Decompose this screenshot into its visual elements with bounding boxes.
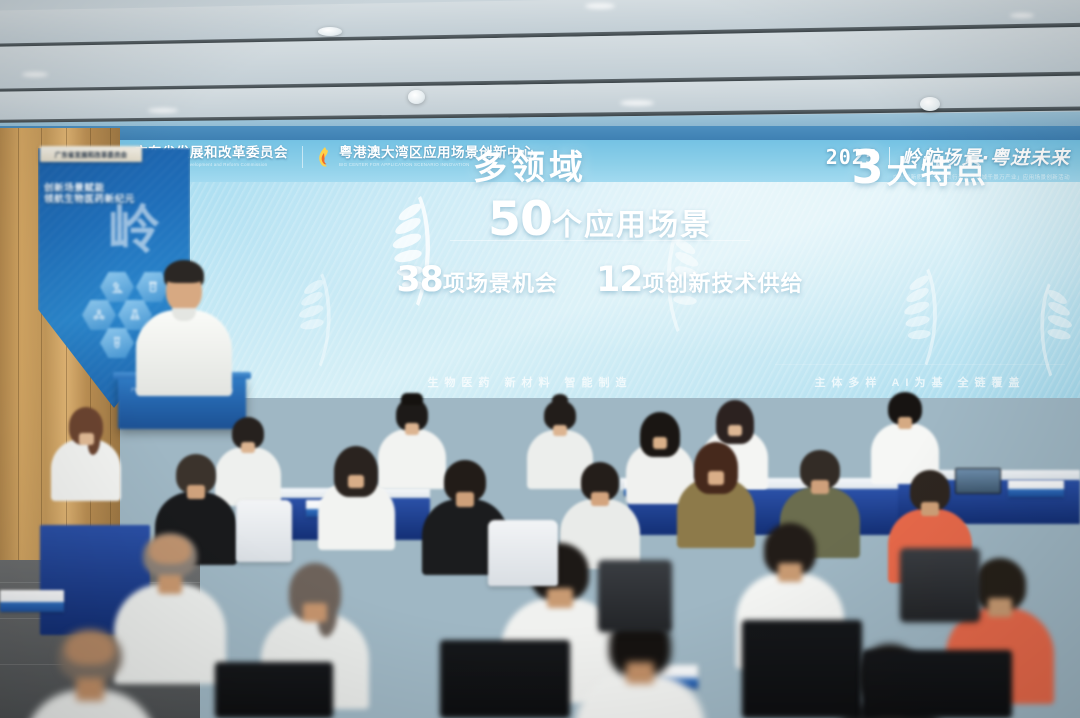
- ceiling-glow-5: [148, 108, 178, 113]
- attendee-neck: [405, 423, 420, 435]
- attendee-neck: [187, 485, 205, 499]
- flame-icon: [317, 146, 330, 168]
- ceiling-glow-3: [22, 72, 48, 77]
- headline-rule-1: [450, 240, 750, 241]
- ceiling-glow-2: [1010, 13, 1034, 18]
- molecule-icon: [82, 300, 116, 330]
- attendee-neck: [898, 417, 913, 429]
- chair-icon: [236, 500, 292, 562]
- chair-icon: [488, 520, 558, 586]
- headline-1-text: 个应用场景: [552, 209, 712, 242]
- attendee-neck: [921, 502, 939, 516]
- attendee-neck: [553, 425, 567, 436]
- vertical-divider-icon: [302, 146, 303, 168]
- attendee-scalp: [149, 535, 191, 564]
- ceiling-spotlight-2: [408, 90, 425, 104]
- headline-2-left-number: 38: [397, 260, 443, 300]
- headline-2-right-text: 项创新技术供给: [642, 271, 803, 296]
- attendee-hair-clip: [401, 393, 422, 405]
- attendee-hair: [694, 442, 739, 494]
- speaker: [128, 258, 238, 388]
- caption-domains: 生物医药 新材料 智能制造: [370, 374, 690, 390]
- attendee-torso: [51, 439, 121, 501]
- headline-three-features: 3大特点: [760, 140, 1080, 194]
- led-backdrop-screen: 广东省发展和改革委员会 Guangdong Provincial Develop…: [120, 140, 1080, 398]
- nameplate-icon: [1008, 480, 1064, 497]
- chair-icon: [862, 650, 1012, 718]
- ceiling-spotlight-3: [920, 97, 940, 111]
- ceiling-spotlight-1: [318, 27, 342, 36]
- speaker-hair-front: [165, 267, 203, 283]
- banner-line-2: 领航生物医药新纪元: [44, 191, 135, 205]
- attendee-hair: [334, 446, 378, 497]
- attendee-neck: [303, 603, 326, 622]
- ceiling-glow-4: [620, 100, 654, 106]
- chair-icon: [215, 662, 333, 718]
- chair-icon: [900, 548, 980, 622]
- attendee-row3-g: [24, 625, 157, 718]
- attendee-neck: [728, 425, 742, 436]
- headline-rule-2: [775, 364, 1065, 365]
- headline-1-number: 50: [488, 192, 552, 247]
- attendee-neck: [547, 588, 573, 608]
- headline-applications: 50个应用场景: [120, 192, 1080, 247]
- headline-2-right-number: 12: [596, 260, 642, 300]
- attendee-neck: [778, 563, 801, 582]
- attendee-neck: [591, 492, 608, 506]
- attendee-neck: [348, 475, 365, 488]
- attendee-neck: [158, 575, 182, 594]
- ceiling-glow-1: [585, 3, 615, 9]
- attendee-neck: [79, 433, 94, 445]
- banner-plaque: 广东省发展和改革委员会: [40, 146, 142, 162]
- chair-icon: [598, 560, 672, 632]
- banner-watermark: 岭: [108, 208, 160, 255]
- conference-photo-scene: 广东省发展和改革委员会 Guangdong Provincial Develop…: [0, 0, 1080, 718]
- attendee-row2-b: [318, 444, 395, 550]
- attendee-hair: [716, 400, 754, 444]
- speaker-torso: [136, 310, 232, 396]
- attendee-neck: [708, 471, 725, 484]
- caption-features: 主体多样 AI为基 全链覆盖: [760, 374, 1080, 390]
- attendee-neck: [241, 442, 255, 453]
- attendee-neck: [456, 492, 474, 507]
- attendee-hair-bun: [552, 394, 567, 406]
- attendee-neck: [811, 480, 828, 494]
- banner-plaque-text: 广东省发展和改革委员会: [55, 150, 128, 159]
- headline-3-number: 3: [851, 140, 886, 194]
- attendee-neck: [988, 598, 1011, 617]
- headline-2-left-text: 项场景机会: [443, 271, 558, 296]
- attendee-hair: [640, 412, 679, 457]
- attendee-scalp: [65, 631, 114, 665]
- attendee-neck: [653, 437, 668, 449]
- headline-multi-domain: 多领域: [370, 140, 690, 189]
- chair-icon: [742, 620, 862, 718]
- attendee-neck: [76, 678, 105, 701]
- headline-opportunities: 38项场景机会 12项创新技术供给: [120, 260, 1080, 300]
- nameplate-icon: [0, 590, 64, 612]
- chair-icon: [440, 640, 570, 718]
- attendee-row1-left: [51, 405, 121, 501]
- attendee-neck: [626, 662, 654, 684]
- headline-3-text: 大特点: [887, 155, 989, 190]
